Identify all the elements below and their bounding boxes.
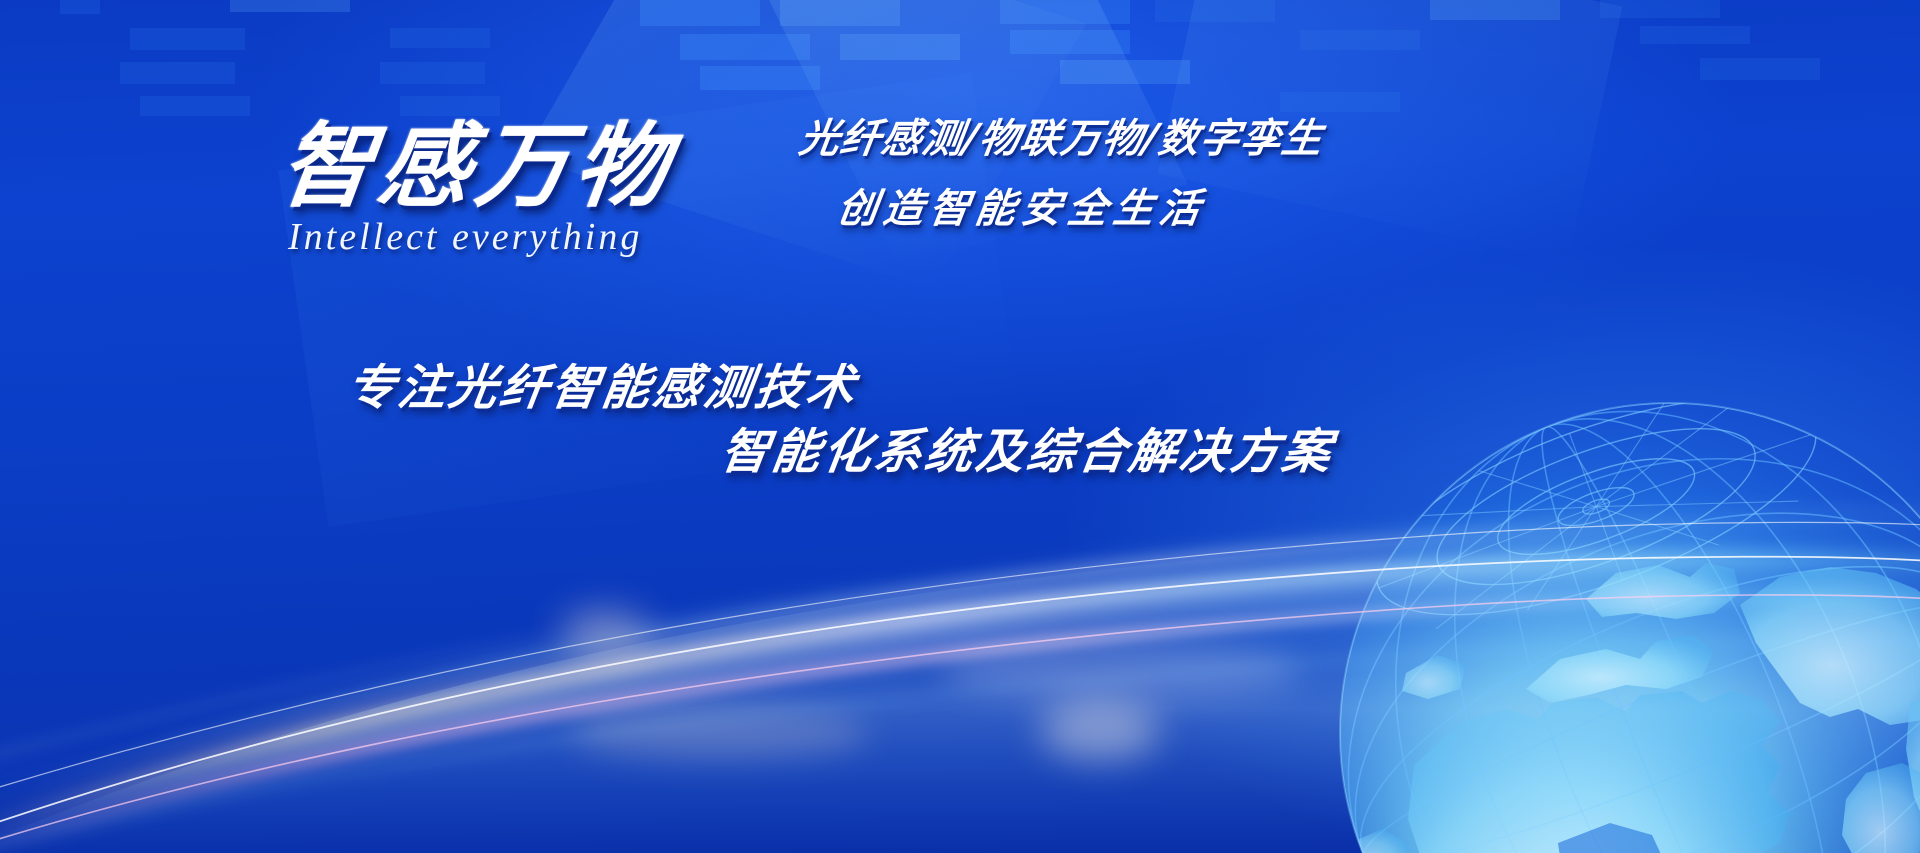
- page-title: 智感万物: [274, 92, 682, 225]
- message-line-2: 智能化系统及综合解决方案: [717, 412, 1339, 482]
- globe-wireframe-icon: [1310, 373, 1920, 853]
- page-title-english: Intellect everything: [288, 215, 642, 259]
- message-line-1: 专注光纤智能感测技术: [343, 348, 863, 418]
- tagline-line-1: 光纤感测/物联万物/数字孪生: [796, 106, 1327, 164]
- tagline-line-2: 创造智能安全生活: [834, 176, 1210, 234]
- hero-banner: 智感万物 Intellect everything 光纤感测/物联万物/数字孪生…: [0, 0, 1920, 853]
- lens-flare-1: [560, 610, 650, 656]
- lens-flare-2: [1040, 700, 1160, 760]
